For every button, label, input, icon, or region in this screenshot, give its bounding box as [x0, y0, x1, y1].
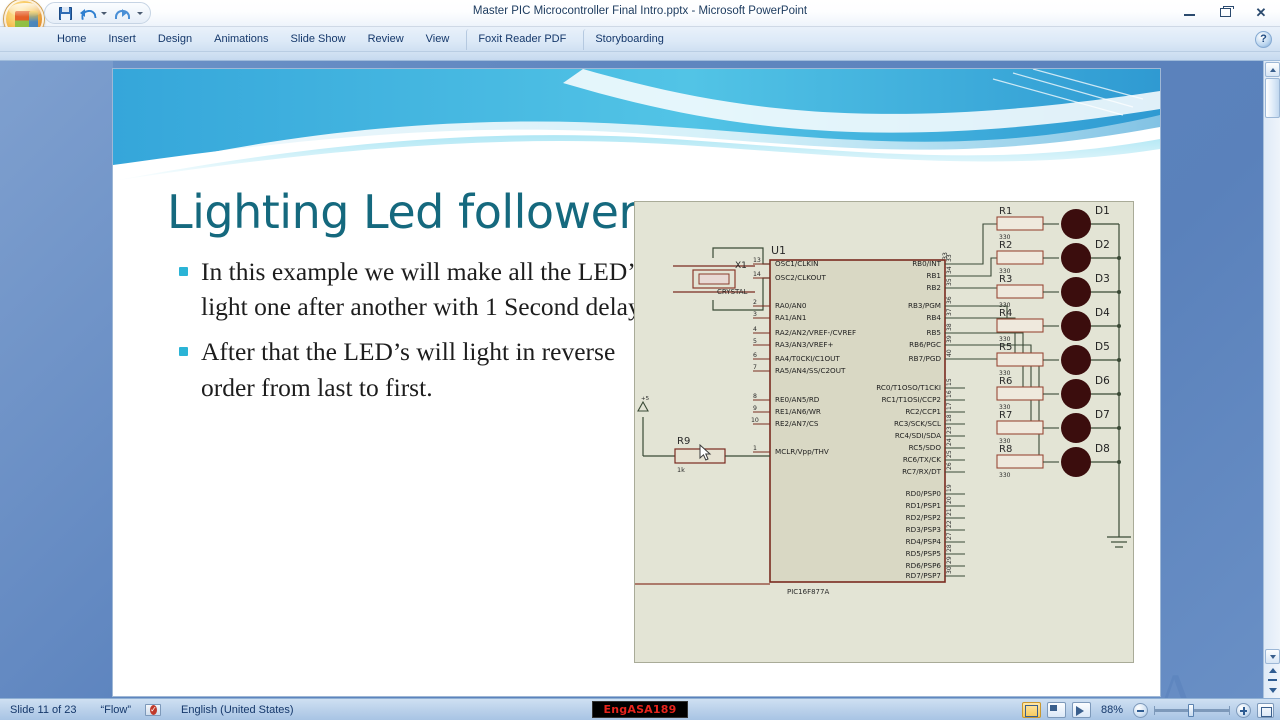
- svg-text:16: 16: [946, 390, 953, 398]
- svg-text:23: 23: [946, 426, 953, 434]
- ribbon-tabs: Home Insert Design Animations Slide Show…: [46, 27, 675, 52]
- svg-text:330: 330: [999, 438, 1011, 445]
- svg-text:25: 25: [946, 450, 953, 458]
- svg-text:RC1/T1OSI/CCP2: RC1/T1OSI/CCP2: [882, 395, 941, 404]
- zoom-percent-label[interactable]: 88%: [1101, 704, 1123, 716]
- svg-text:RB7/PGD: RB7/PGD: [909, 354, 942, 363]
- svg-text:D4: D4: [1095, 307, 1110, 319]
- svg-text:R4: R4: [999, 308, 1012, 319]
- error-mark-icon: ✓: [150, 705, 157, 715]
- status-language[interactable]: English (United States): [181, 704, 294, 716]
- scrollbar-thumb[interactable]: [1265, 78, 1280, 118]
- tab-home[interactable]: Home: [46, 29, 97, 50]
- slide-theme-header: [113, 69, 1160, 181]
- zoom-in-button[interactable]: [1236, 703, 1251, 718]
- svg-text:RB4: RB4: [927, 313, 942, 322]
- spellcheck-icon[interactable]: ✓: [145, 703, 161, 717]
- svg-text:3: 3: [753, 311, 757, 318]
- crystal-ref-label: X1: [735, 261, 747, 271]
- svg-text:330: 330: [999, 302, 1011, 309]
- svg-text:D8: D8: [1095, 443, 1110, 455]
- svg-text:RC4/SDI/SDA: RC4/SDI/SDA: [895, 431, 941, 440]
- slide-work-area: A: [0, 61, 1280, 698]
- svg-text:37: 37: [946, 308, 953, 316]
- svg-text:RB0/INT: RB0/INT: [912, 259, 941, 268]
- svg-text:RA2/AN2/VREF-/CVREF: RA2/AN2/VREF-/CVREF: [775, 328, 856, 337]
- svg-text:RE2/AN7/CS: RE2/AN7/CS: [775, 419, 819, 428]
- bullet-item: After that the LED’s will light in rever…: [171, 334, 671, 404]
- svg-text:21: 21: [946, 508, 953, 516]
- svg-text:18: 18: [946, 414, 953, 422]
- svg-text:17: 17: [946, 402, 953, 410]
- chip-part-label: PIC16F877A: [787, 588, 829, 596]
- ribbon-tab-bar: Home Insert Design Animations Slide Show…: [0, 27, 1280, 52]
- schematic-svg: U1 PIC16F877A X1 CRYSTAL 13 14 2: [635, 202, 1133, 662]
- wave-graphic: [113, 69, 1160, 181]
- svg-text:R5: R5: [999, 342, 1012, 353]
- scroll-down-button[interactable]: [1265, 649, 1280, 664]
- svg-text:330: 330: [999, 234, 1011, 241]
- svg-text:1: 1: [753, 445, 757, 452]
- svg-text:R2: R2: [999, 240, 1012, 251]
- bullet-dot-icon: [179, 347, 188, 356]
- fit-to-window-button[interactable]: [1257, 703, 1274, 718]
- svg-text:14: 14: [753, 271, 761, 278]
- zoom-slider[interactable]: [1154, 709, 1230, 712]
- svg-text:10: 10: [751, 417, 759, 424]
- slide-body-placeholder[interactable]: In this example we will make all the LED…: [171, 254, 671, 415]
- tab-insert[interactable]: Insert: [97, 29, 147, 50]
- bullet-item: In this example we will make all the LED…: [171, 254, 671, 324]
- powerpoint-window: Master PIC Microcontroller Final Intro.p…: [0, 0, 1280, 720]
- svg-text:39: 39: [946, 335, 953, 343]
- slide-pane-left-gutter: [0, 61, 113, 698]
- recorder-watermark: EngASA189: [592, 701, 688, 718]
- tab-animations[interactable]: Animations: [203, 29, 279, 50]
- svg-text:RB6/PGC: RB6/PGC: [909, 340, 941, 349]
- restore-icon: [1220, 8, 1231, 17]
- svg-text:35: 35: [946, 278, 953, 286]
- svg-text:330: 330: [999, 370, 1011, 377]
- svg-text:RD6/PSP6: RD6/PSP6: [906, 561, 942, 570]
- svg-text:OSC2/CLKOUT: OSC2/CLKOUT: [775, 273, 826, 282]
- triangle-down-icon: [1269, 688, 1277, 693]
- minimize-button[interactable]: [1174, 2, 1204, 22]
- tab-review[interactable]: Review: [357, 29, 415, 50]
- svg-text:2: 2: [753, 299, 757, 306]
- svg-text:36: 36: [946, 296, 953, 304]
- svg-text:+5: +5: [641, 396, 650, 402]
- slide-canvas[interactable]: Lighting Led follower In this example we…: [113, 69, 1160, 696]
- svg-text:330: 330: [999, 404, 1011, 411]
- scroll-up-button[interactable]: [1265, 62, 1280, 77]
- bullet-dot-icon: [179, 267, 188, 276]
- svg-text:R8: R8: [999, 444, 1012, 455]
- svg-text:R3: R3: [999, 274, 1012, 285]
- svg-text:330: 330: [999, 336, 1011, 343]
- svg-text:RE0/AN5/RD: RE0/AN5/RD: [775, 395, 820, 404]
- window-controls: ✕: [1174, 2, 1276, 22]
- svg-text:RC0/T1OSO/T1CKI: RC0/T1OSO/T1CKI: [876, 383, 941, 392]
- svg-text:6: 6: [753, 352, 757, 359]
- triangle-up-icon: [1269, 668, 1277, 673]
- svg-text:RD3/PSP3: RD3/PSP3: [906, 525, 941, 534]
- svg-text:33: 33: [946, 254, 953, 262]
- tab-storyboarding[interactable]: Storyboarding: [583, 29, 675, 50]
- svg-text:13: 13: [753, 257, 761, 264]
- svg-text:D2: D2: [1095, 239, 1110, 251]
- slide-nav-divider: [1265, 675, 1280, 685]
- svg-text:22: 22: [946, 520, 953, 528]
- svg-text:R6: R6: [999, 376, 1012, 387]
- tab-view[interactable]: View: [415, 29, 461, 50]
- svg-text:24: 24: [946, 438, 953, 446]
- bullet-text: In this example we will make all the LED…: [201, 257, 645, 321]
- status-right-group: 88%: [1022, 699, 1274, 720]
- crystal-value-label: CRYSTAL: [717, 288, 748, 296]
- svg-text:R1: R1: [999, 206, 1012, 217]
- help-button[interactable]: ?: [1255, 31, 1272, 48]
- svg-text:20: 20: [946, 496, 953, 504]
- svg-text:RC7/RX/DT: RC7/RX/DT: [902, 467, 942, 476]
- svg-text:RA3/AN3/VREF+: RA3/AN3/VREF+: [775, 340, 834, 349]
- title-bar: Master PIC Microcontroller Final Intro.p…: [0, 0, 1280, 27]
- mouse-cursor: [699, 444, 713, 462]
- svg-text:28: 28: [946, 544, 953, 552]
- status-theme-name[interactable]: “Flow”: [100, 704, 131, 716]
- svg-text:19: 19: [946, 484, 953, 492]
- status-slide-counter[interactable]: Slide 11 of 23: [10, 704, 76, 716]
- zoom-slider-thumb[interactable]: [1188, 704, 1194, 717]
- window-title: Master PIC Microcontroller Final Intro.p…: [0, 5, 1280, 17]
- svg-text:MCLR/Vpp/THV: MCLR/Vpp/THV: [775, 447, 829, 456]
- chevron-up-icon: [1270, 68, 1276, 72]
- svg-text:7: 7: [753, 364, 757, 371]
- svg-text:RB2: RB2: [927, 283, 942, 292]
- svg-text:RB1: RB1: [927, 271, 942, 280]
- svg-text:30: 30: [946, 566, 953, 574]
- svg-text:RC5/SDO: RC5/SDO: [909, 443, 942, 452]
- r9-ref-label: R9: [677, 436, 690, 447]
- slide-nav-buttons: [1265, 665, 1280, 697]
- svg-text:9: 9: [753, 405, 757, 412]
- chevron-down-icon: [1270, 655, 1276, 659]
- svg-text:RE1/AN6/WR: RE1/AN6/WR: [775, 407, 821, 416]
- svg-text:RA5/AN4/SS/C2OUT: RA5/AN4/SS/C2OUT: [775, 366, 846, 375]
- svg-text:15: 15: [946, 378, 953, 386]
- svg-text:RD7/PSP7: RD7/PSP7: [906, 571, 941, 580]
- svg-text:5: 5: [753, 338, 757, 345]
- svg-text:330: 330: [999, 472, 1011, 479]
- previous-slide-button[interactable]: [1265, 665, 1280, 675]
- svg-text:RB5: RB5: [927, 328, 942, 337]
- close-button[interactable]: ✕: [1246, 2, 1276, 22]
- tab-foxit-reader-pdf[interactable]: Foxit Reader PDF: [466, 29, 577, 50]
- next-slide-button[interactable]: [1265, 685, 1280, 695]
- svg-text:D6: D6: [1095, 375, 1110, 387]
- svg-text:D5: D5: [1095, 341, 1110, 353]
- svg-text:26: 26: [946, 462, 953, 470]
- vertical-scrollbar[interactable]: [1263, 61, 1280, 698]
- r9-value-label: 1k: [677, 466, 685, 474]
- view-slide-show-button[interactable]: [1072, 702, 1091, 718]
- divider-icon: [1268, 679, 1277, 681]
- bullet-text: After that the LED’s will light in rever…: [201, 337, 615, 401]
- watermark-text: EngASA189: [604, 703, 677, 716]
- status-bar: Slide 11 of 23 “Flow” ✓ English (United …: [0, 698, 1280, 720]
- close-icon: ✕: [1256, 6, 1267, 19]
- svg-text:D7: D7: [1095, 409, 1110, 421]
- svg-text:29: 29: [946, 556, 953, 564]
- circuit-schematic-image[interactable]: U1 PIC16F877A X1 CRYSTAL 13 14 2: [634, 201, 1134, 663]
- svg-text:RD4/PSP4: RD4/PSP4: [906, 537, 942, 546]
- svg-text:RA4/T0CKI/C1OUT: RA4/T0CKI/C1OUT: [775, 354, 840, 363]
- svg-text:RD1/PSP1: RD1/PSP1: [906, 501, 941, 510]
- svg-text:OSC1/CLKIN: OSC1/CLKIN: [775, 259, 818, 268]
- svg-text:RC6/TX/CK: RC6/TX/CK: [903, 455, 941, 464]
- svg-text:34: 34: [946, 266, 953, 274]
- svg-text:4: 4: [753, 326, 757, 333]
- tab-design[interactable]: Design: [147, 29, 203, 50]
- svg-text:RC3/SCK/SCL: RC3/SCK/SCL: [894, 419, 941, 428]
- svg-text:RD5/PSP5: RD5/PSP5: [906, 549, 941, 558]
- minimize-icon: [1184, 14, 1195, 16]
- svg-text:38: 38: [946, 323, 953, 331]
- svg-text:RD2/PSP2: RD2/PSP2: [906, 513, 941, 522]
- svg-text:D3: D3: [1095, 273, 1110, 285]
- svg-text:RA1/AN1: RA1/AN1: [775, 313, 806, 322]
- ribbon-collapsed-area: [0, 52, 1280, 61]
- view-normal-button[interactable]: [1022, 702, 1041, 718]
- restore-button[interactable]: [1210, 2, 1240, 22]
- svg-text:27: 27: [946, 532, 953, 540]
- svg-text:R7: R7: [999, 410, 1012, 421]
- svg-text:D1: D1: [1095, 205, 1110, 217]
- view-slide-sorter-button[interactable]: [1047, 702, 1066, 718]
- svg-text:RB3/PGM: RB3/PGM: [908, 301, 941, 310]
- svg-text:RA0/AN0: RA0/AN0: [775, 301, 807, 310]
- svg-text:8: 8: [753, 393, 757, 400]
- svg-text:RD0/PSP0: RD0/PSP0: [906, 489, 942, 498]
- svg-text:40: 40: [946, 349, 953, 357]
- chip-ref-label: U1: [771, 244, 786, 257]
- tab-slide-show[interactable]: Slide Show: [280, 29, 357, 50]
- svg-text:RC2/CCP1: RC2/CCP1: [905, 407, 941, 416]
- svg-text:330: 330: [999, 268, 1011, 275]
- slide-title[interactable]: Lighting Led follower: [167, 185, 687, 239]
- zoom-out-button[interactable]: [1133, 703, 1148, 718]
